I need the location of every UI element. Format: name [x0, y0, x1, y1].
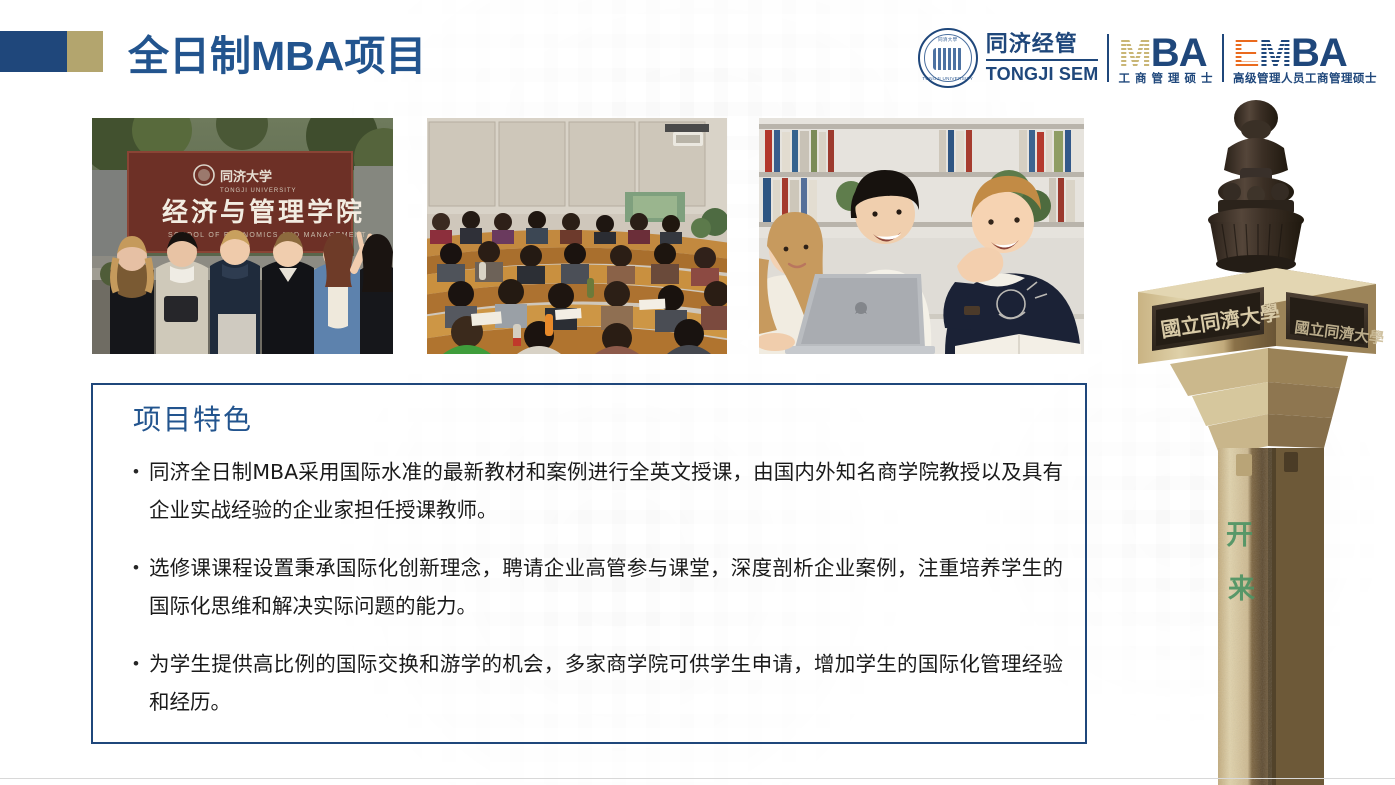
emba-letter-a: A	[1319, 36, 1347, 70]
bottom-divider	[0, 778, 1395, 779]
tongji-sem-en-label: TONGJI SEM	[986, 61, 1099, 83]
bullet-marker-icon: •	[133, 645, 149, 683]
seal-arc-bottom-label: TONGJI UNIVERSITY	[920, 76, 976, 81]
library-study-photo	[759, 118, 1084, 354]
brand-divider	[1107, 34, 1109, 82]
mba-subtitle: 工 商 管 理 硕 士	[1118, 70, 1213, 85]
svg-text:经济与管理学院: 经济与管理学院	[162, 197, 365, 228]
svg-text:同济大学: 同济大学	[220, 169, 272, 185]
list-item: • 为学生提供高比例的国际交换和游学的机会，多家商学院可供学生申请，增加学生的国…	[133, 645, 1063, 721]
tongji-sem-cn-label: 同济经管	[986, 34, 1099, 61]
bullet-text: 选修课课程设置秉承国际化创新理念，聘请企业高管参与课堂，深度剖析企业案例，注重培…	[149, 549, 1063, 625]
campus-sign-group-photo: 同济大学 TONGJI UNIVERSITY 经济与管理学院 SCHOOL OF…	[92, 118, 393, 354]
page-title: 全日制MBA项目	[128, 27, 426, 85]
list-item: • 同济全日制MBA采用国际水准的最新教材和案例进行全英文授课，由国内外知名商学…	[133, 453, 1063, 529]
bullet-text: 为学生提供高比例的国际交换和游学的机会，多家商学院可供学生申请，增加学生的国际化…	[149, 645, 1063, 721]
bullet-marker-icon: •	[133, 549, 149, 587]
svg-text:开: 开	[1226, 520, 1253, 551]
header-accent-bars	[0, 31, 103, 72]
emba-letter-m: M	[1259, 36, 1291, 70]
svg-text:TONGJI UNIVERSITY: TONGJI UNIVERSITY	[220, 188, 297, 194]
brand-lockup: 同濟大學 TONGJI UNIVERSITY 同济经管 TONGJI SEM M…	[918, 27, 1377, 89]
lecture-hall-photo	[427, 118, 727, 354]
seal-arc-top-label: 同濟大學	[920, 37, 976, 43]
mba-letter-a: A	[1179, 36, 1207, 70]
list-item: • 选修课课程设置秉承国际化创新理念，聘请企业高管参与课堂，深度剖析企业案例，注…	[133, 549, 1063, 625]
slide-header: 全日制MBA项目 同濟大學 TONGJI UNIVERSITY 同济经管 TON…	[0, 0, 1395, 110]
feature-bullet-list: • 同济全日制MBA采用国际水准的最新教材和案例进行全英文授课，由国内外知名商学…	[133, 453, 1063, 721]
emba-subtitle: 高级管理人员工商管理硕士	[1233, 70, 1377, 85]
emba-wordmark: E M B A 高级管理人员工商管理硕士	[1233, 32, 1377, 85]
accent-bar-navy	[0, 31, 67, 72]
mba-wordmark: M B A 工 商 管 理 硕 士	[1118, 32, 1213, 85]
bullet-text: 同济全日制MBA采用国际水准的最新教材和案例进行全英文授课，由国内外知名商学院教…	[149, 453, 1063, 529]
brand-divider-2	[1222, 34, 1224, 82]
bullet-marker-icon: •	[133, 453, 149, 491]
svg-text:来: 来	[1228, 574, 1255, 605]
emba-letter-b: B	[1291, 36, 1319, 70]
tongji-stone-pillar: 國立同濟大學 國立同濟大學 开 来	[1118, 96, 1395, 785]
feature-box: 项目特色 • 同济全日制MBA采用国际水准的最新教材和案例进行全英文授课，由国内…	[91, 383, 1087, 744]
seal-emblem-icon	[933, 48, 963, 70]
accent-bar-gold	[67, 31, 103, 72]
feature-heading: 项目特色	[133, 398, 253, 438]
tongji-university-seal-icon: 同濟大學 TONGJI UNIVERSITY	[918, 28, 978, 88]
emba-letter-e: E	[1233, 36, 1259, 70]
mba-letter-m: M	[1118, 36, 1150, 70]
mba-letter-b: B	[1151, 36, 1179, 70]
tongji-sem-logo: 同濟大學 TONGJI UNIVERSITY 同济经管 TONGJI SEM	[918, 27, 1099, 89]
